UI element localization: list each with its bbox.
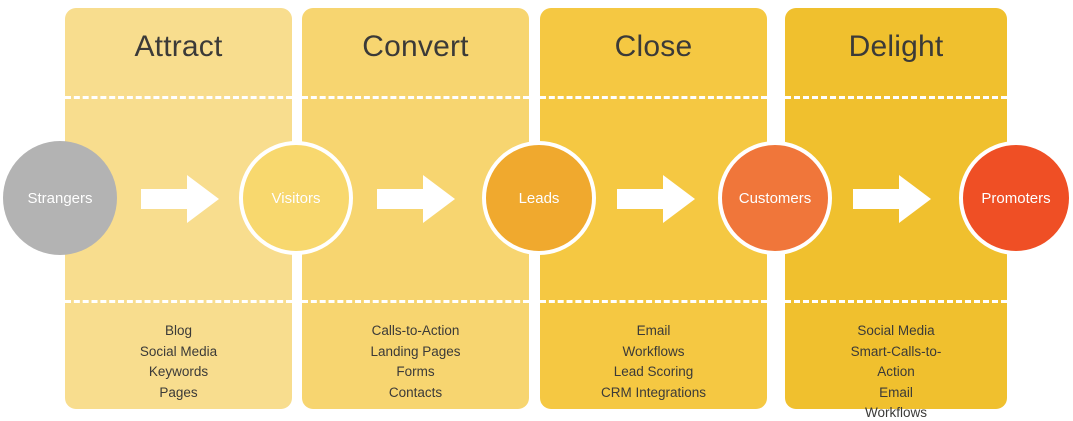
tactic-item: Smart-Calls-to- [789, 342, 1003, 363]
flow-arrow-leads-to-customers [617, 175, 695, 223]
tactic-item: Email [789, 383, 1003, 404]
persona-label-strangers: Strangers [27, 190, 92, 207]
tactic-list-delight: Social Media Smart-Calls-to- Action Emai… [789, 321, 1003, 421]
stage-title-convert: Convert [302, 30, 529, 64]
persona-circle-leads: Leads [482, 141, 596, 255]
divider-bottom-delight [785, 300, 1007, 303]
tactic-item: Landing Pages [306, 342, 525, 363]
persona-circle-customers: Customers [718, 141, 832, 255]
persona-circle-visitors: Visitors [239, 141, 353, 255]
tactic-item: Action [789, 362, 1003, 383]
tactic-list-attract: Blog Social Media Keywords Pages [69, 321, 288, 403]
flow-arrow-visitors-to-leads [377, 175, 455, 223]
tactic-item: Lead Scoring [544, 362, 763, 383]
persona-label-leads: Leads [519, 190, 560, 207]
divider-bottom-close [540, 300, 767, 303]
divider-top-convert [302, 96, 529, 99]
tactic-item: Pages [69, 383, 288, 404]
tactic-item: Workflows [789, 403, 1003, 421]
tactic-item: Social Media [69, 342, 288, 363]
tactic-item: Forms [306, 362, 525, 383]
tactic-list-convert: Calls-to-Action Landing Pages Forms Cont… [306, 321, 525, 403]
tactic-item: Blog [69, 321, 288, 342]
divider-top-delight [785, 96, 1007, 99]
persona-label-visitors: Visitors [272, 190, 321, 207]
tactic-item: CRM Integrations [544, 383, 763, 404]
tactic-item: Email [544, 321, 763, 342]
persona-circle-strangers: Strangers [3, 141, 117, 255]
tactic-item: Calls-to-Action [306, 321, 525, 342]
divider-bottom-convert [302, 300, 529, 303]
persona-label-promoters: Promoters [981, 190, 1050, 207]
inbound-methodology-diagram: Attract Blog Social Media Keywords Pages… [0, 0, 1073, 421]
tactic-item: Contacts [306, 383, 525, 404]
divider-top-attract [65, 96, 292, 99]
tactic-item: Keywords [69, 362, 288, 383]
persona-label-customers: Customers [739, 190, 812, 207]
persona-circle-promoters: Promoters [959, 141, 1073, 255]
stage-title-attract: Attract [65, 30, 292, 64]
flow-arrow-customers-to-promoters [853, 175, 931, 223]
flow-arrow-strangers-to-visitors [141, 175, 219, 223]
divider-top-close [540, 96, 767, 99]
stage-title-close: Close [540, 30, 767, 64]
divider-bottom-attract [65, 300, 292, 303]
tactic-item: Social Media [789, 321, 1003, 342]
tactic-list-close: Email Workflows Lead Scoring CRM Integra… [544, 321, 763, 403]
tactic-item: Workflows [544, 342, 763, 363]
stage-title-delight: Delight [785, 30, 1007, 64]
